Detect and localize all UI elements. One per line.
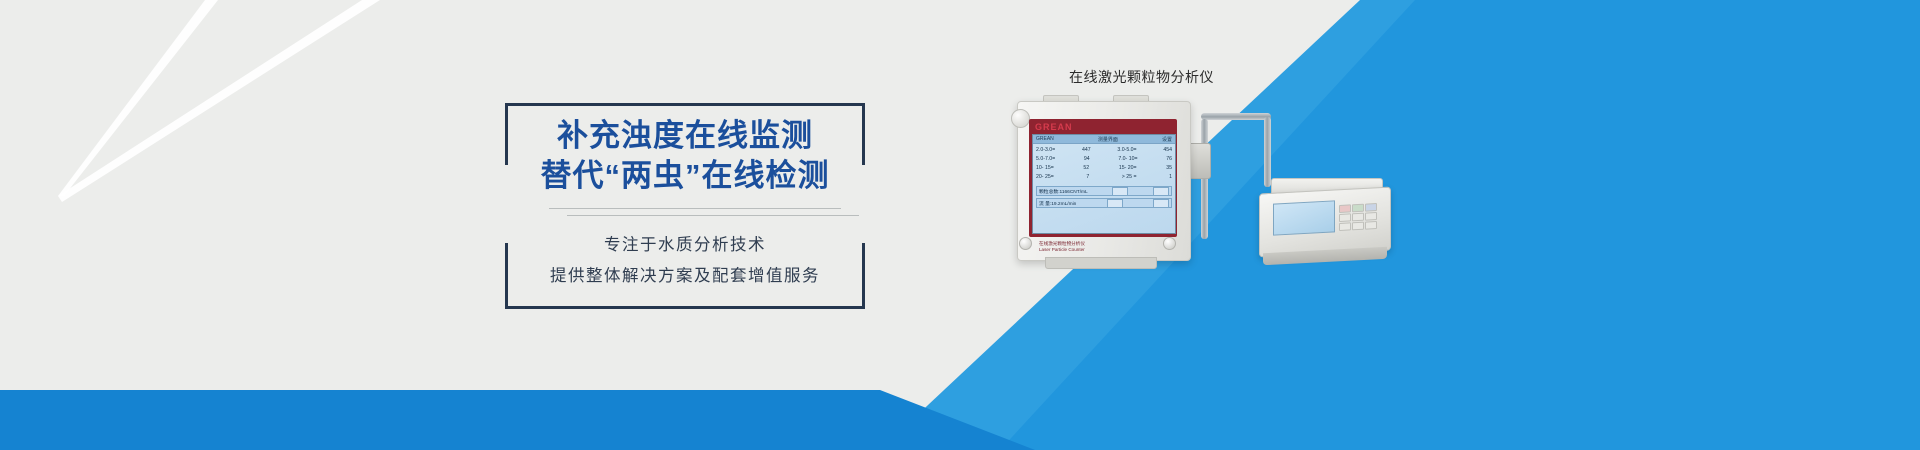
cell-value-a: 7 <box>1086 173 1089 182</box>
display-header-right: 设置 <box>1162 136 1172 143</box>
cell-value-b: 454 <box>1163 146 1172 155</box>
bench-display <box>1273 200 1335 235</box>
cell-value-a: 52 <box>1083 164 1089 173</box>
enclosure-latch-right <box>1163 237 1176 250</box>
subline-1: 专注于水质分析技术 <box>505 231 865 255</box>
enclosure-knob <box>1011 109 1030 128</box>
headline-line-1: 补充浊度在线监测 <box>505 115 865 156</box>
bench-key[interactable] <box>1365 212 1377 220</box>
cell-range-a: 5.0-7.0= <box>1036 155 1055 164</box>
screen-button-print[interactable] <box>1107 199 1123 208</box>
bench-keypad <box>1339 203 1377 231</box>
nameplate-en: Laser Particle Counter <box>1039 247 1085 253</box>
enclosure-base <box>1045 257 1157 269</box>
headline-copy-block: 补充浊度在线监测 替代“两虫”在线检测 专注于水质分析技术 提供整体解决方案及配… <box>505 103 865 309</box>
enclosure-latch-left <box>1019 237 1032 250</box>
sampling-tube-vertical <box>1264 117 1271 187</box>
cell-range-b: 7.0- 10= <box>1118 155 1137 164</box>
brand-mark: GREAN <box>1035 122 1073 132</box>
cell-range-a: 2.0-3.0= <box>1036 146 1055 155</box>
promo-banner: 补充浊度在线监测 替代“两虫”在线检测 专注于水质分析技术 提供整体解决方案及配… <box>0 0 1920 450</box>
headline-group: 补充浊度在线监测 替代“两虫”在线检测 <box>505 103 865 196</box>
subline-2: 提供整体解决方案及配套增值服务 <box>505 262 865 286</box>
screen-button-back[interactable] <box>1153 199 1169 208</box>
status-bar-flow: 流 量:19.2mL/min <box>1036 198 1172 208</box>
divider-rule-upper <box>549 208 841 209</box>
display-header-mid: 测量界面 <box>1098 136 1118 143</box>
headline-line-2: 替代“两虫”在线检测 <box>505 155 865 196</box>
benchtop-particle-counter <box>1253 178 1398 283</box>
screen-button-query[interactable] <box>1153 187 1169 196</box>
table-row: 2.0-3.0= 447 3.0-5.0= 454 <box>1036 146 1172 155</box>
divider-rule-lower <box>567 215 859 216</box>
frame-border-bottom <box>505 306 865 309</box>
display-header-left: GREAN <box>1036 136 1054 142</box>
sampling-tube-horizontal <box>1201 113 1271 120</box>
table-row: 20- 25= 7 > 25 = 1 <box>1036 173 1172 182</box>
bench-key[interactable] <box>1339 204 1351 212</box>
bench-key[interactable] <box>1352 213 1364 221</box>
status-flow-text: 流 量:19.2mL/min <box>1039 200 1076 207</box>
cell-range-b: > 25 = <box>1122 173 1137 182</box>
particle-count-table: 2.0-3.0= 447 3.0-5.0= 454 5.0-7.0= 94 7.… <box>1033 144 1175 184</box>
screen-button-setup[interactable] <box>1112 187 1128 196</box>
label-online-analyzer: 在线激光颗粒物分析仪 <box>1069 67 1214 87</box>
cell-value-b: 76 <box>1166 155 1172 164</box>
analyzer-display: GREAN 测量界面 设置 2.0-3.0= 447 3.0-5.0= 454 … <box>1032 134 1176 234</box>
cell-value-a: 447 <box>1082 146 1091 155</box>
background-graphics <box>0 0 1920 450</box>
cell-range-b: 3.0-5.0= <box>1117 146 1136 155</box>
status-total-text: 颗粒总数:1166CNT/mL <box>1039 188 1088 195</box>
cell-range-a: 10- 15= <box>1036 164 1054 173</box>
bench-key[interactable] <box>1339 223 1351 231</box>
display-header: GREAN 测量界面 设置 <box>1033 135 1175 144</box>
online-laser-particle-analyzer: GREAN GREAN 测量界面 设置 2.0-3.0= 447 3.0-5.0… <box>1005 85 1200 275</box>
cell-value-b: 35 <box>1166 164 1172 173</box>
status-bar-total: 颗粒总数:1166CNT/mL <box>1036 186 1172 196</box>
table-row: 10- 15= 52 15- 20= 35 <box>1036 164 1172 173</box>
sampling-tube-riser <box>1201 119 1208 239</box>
cell-range-a: 20- 25= <box>1036 173 1054 182</box>
cell-range-b: 15- 20= <box>1119 164 1137 173</box>
bench-key[interactable] <box>1339 214 1351 222</box>
bench-key[interactable] <box>1365 203 1377 211</box>
table-row: 5.0-7.0= 94 7.0- 10= 76 <box>1036 155 1172 164</box>
bench-key[interactable] <box>1352 222 1364 230</box>
blue-bottom-bar <box>0 390 1035 450</box>
bench-key[interactable] <box>1352 204 1364 212</box>
cell-value-a: 94 <box>1084 155 1090 164</box>
enclosure-nameplate: 在线激光颗粒物分析仪 Laser Particle Counter <box>1039 241 1085 253</box>
cell-value-b: 1 <box>1169 173 1172 182</box>
bench-key[interactable] <box>1365 221 1377 229</box>
